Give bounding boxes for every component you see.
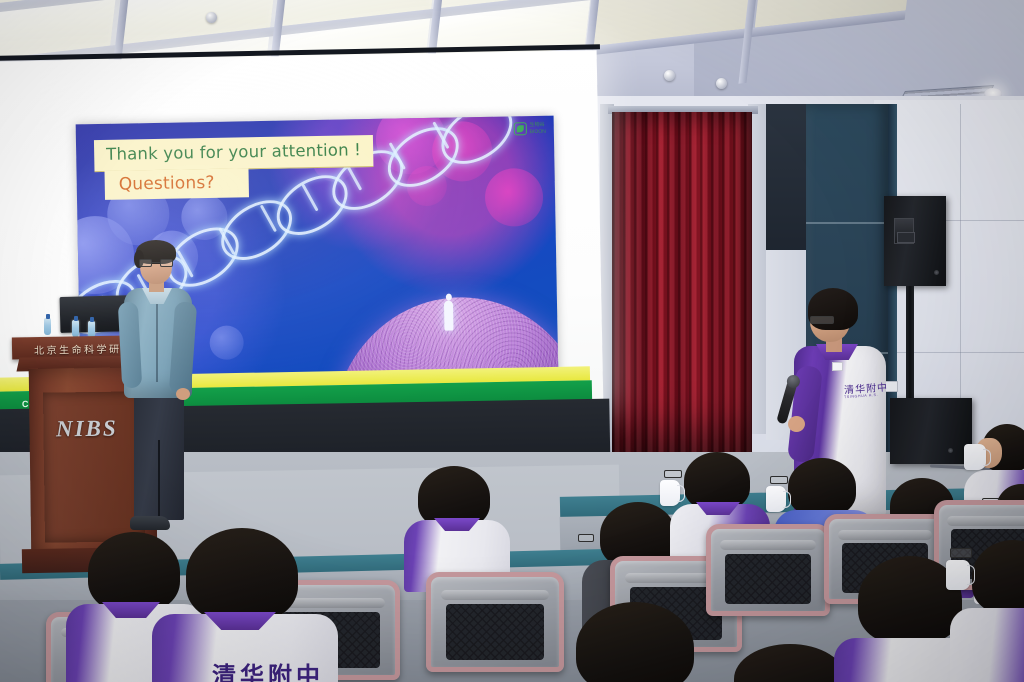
subwoofer-logo-icon xyxy=(948,448,953,453)
water-bottle[interactable] xyxy=(72,320,79,337)
audience-hair xyxy=(684,452,750,510)
speaker-pole xyxy=(906,286,914,412)
ceiling-sprinkler-icon xyxy=(664,70,675,81)
glasses-icon xyxy=(578,534,594,542)
bokeh-circle xyxy=(485,168,544,227)
name-badge xyxy=(832,362,843,371)
ceiling-sprinkler-icon xyxy=(716,78,727,89)
logo-text-en: BIOON xyxy=(530,128,546,135)
ceiling-sprinkler-icon xyxy=(206,12,217,23)
glasses-icon xyxy=(950,548,972,558)
audience-uniform xyxy=(950,608,1024,682)
presenter xyxy=(118,240,206,550)
uniform-text: 清华附中 xyxy=(212,656,324,682)
face-mask xyxy=(766,486,786,512)
pa-speaker-horn-icon xyxy=(894,218,914,244)
red-stage-curtain xyxy=(612,112,752,452)
subwoofer xyxy=(890,398,972,464)
audience-member xyxy=(408,466,500,576)
auditorium-chair[interactable] xyxy=(706,524,830,616)
glasses-icon xyxy=(139,259,173,267)
audience-hair xyxy=(186,528,298,622)
audience-hair xyxy=(734,644,846,682)
audience-hair xyxy=(88,532,180,612)
leaf-icon xyxy=(514,122,527,135)
face-mask xyxy=(660,480,680,506)
glasses-icon xyxy=(664,470,682,478)
questioner-hand xyxy=(788,416,805,432)
pa-logo-icon xyxy=(934,270,939,275)
audience-member: 清华附中 xyxy=(168,528,318,682)
glasses-icon xyxy=(770,476,788,484)
audience-hair xyxy=(788,458,856,516)
audience-hair xyxy=(972,540,1024,614)
audience-hair xyxy=(576,602,694,682)
slide-logo: 生物谷 BIOON xyxy=(514,122,546,136)
slide-subheading: Questions? xyxy=(119,173,215,195)
door-recess xyxy=(766,104,810,254)
presenter-jacket-zipper xyxy=(156,300,158,382)
lecture-hall-photo: Thank you for your attention ! Questions… xyxy=(0,0,1024,682)
water-bottle[interactable] xyxy=(44,318,51,335)
presenter-hand xyxy=(176,388,190,400)
slide-heading: Thank you for your attention ! xyxy=(106,140,361,164)
slide-subheading-box: Questions? xyxy=(104,168,248,200)
logo-text-cn: 生物谷 xyxy=(530,122,546,129)
slide-heading-box: Thank you for your attention ! xyxy=(94,135,373,172)
podium-logo-text: NIBS xyxy=(56,416,118,443)
bokeh-circle xyxy=(209,325,244,360)
glasses-icon xyxy=(810,316,834,324)
face-mask xyxy=(964,444,986,470)
presenter-leg-seam xyxy=(158,440,160,518)
human-silhouette-graphic xyxy=(444,301,454,331)
audience-member xyxy=(560,602,710,682)
face-mask xyxy=(946,560,970,590)
auditorium-chair[interactable] xyxy=(426,572,564,672)
presenter-shoe xyxy=(130,516,170,530)
